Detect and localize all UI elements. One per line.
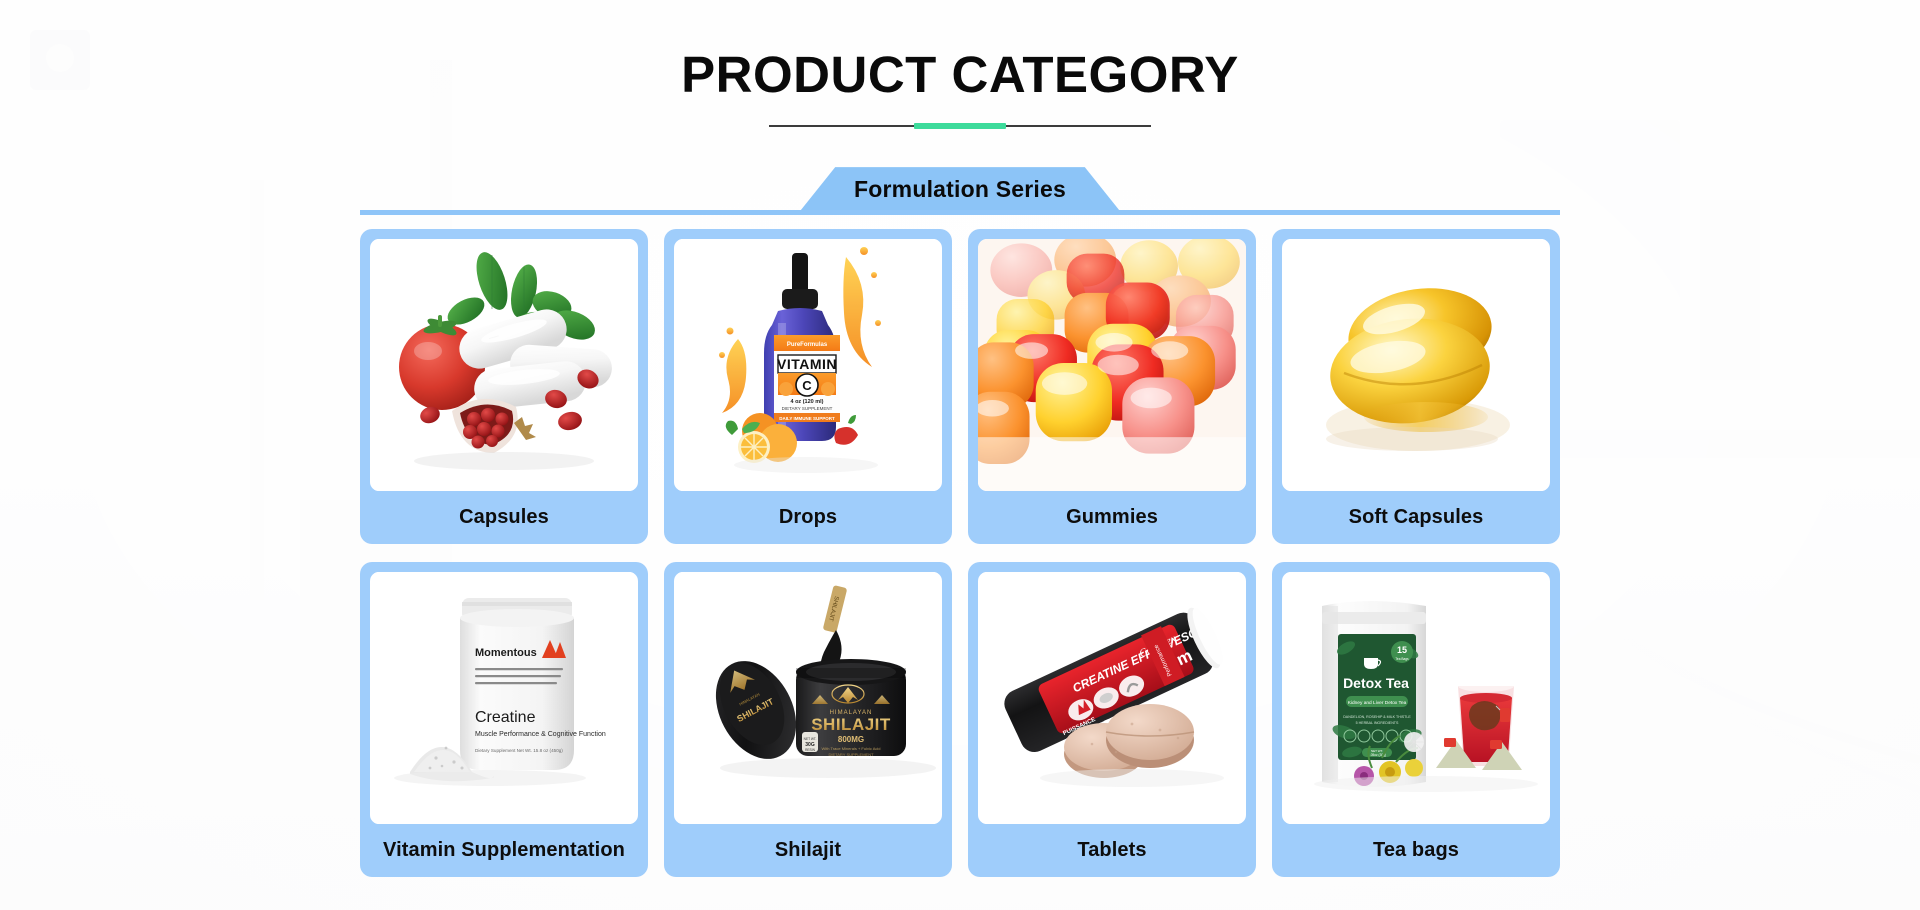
svg-text:Creatine: Creatine — [475, 709, 536, 726]
category-card-vitamin-supplementation[interactable]: Momentous ® Creatine Muscle Performance … — [360, 562, 648, 877]
svg-text:Dietary Supplement Net Wt. 15.: Dietary Supplement Net Wt. 15.8 oz (450g… — [475, 748, 563, 753]
svg-text:NET WT.: NET WT. — [804, 737, 817, 741]
vitamin-supplementation-thumbnail: Momentous ® Creatine Muscle Performance … — [370, 572, 638, 824]
category-label: Tablets — [978, 824, 1246, 877]
svg-text:Kidney and Liver Detox Tea: Kidney and Liver Detox Tea — [1348, 700, 1407, 706]
page-title: PRODUCT CATEGORY — [0, 0, 1920, 103]
category-card-grid: Capsules — [360, 229, 1560, 877]
tablets-thumbnail: CREATINE EFFERVESCENT Complex PUISSANCE … — [978, 572, 1246, 824]
svg-text:Muscle Performance & Cognitive: Muscle Performance & Cognitive Function — [475, 731, 606, 738]
svg-text:DIETARY SUPPLEMENT: DIETARY SUPPLEMENT — [782, 406, 833, 411]
category-card-tablets[interactable]: CREATINE EFFERVESCENT Complex PUISSANCE … — [968, 562, 1256, 877]
svg-text:DIETARY SUPPLEMENT: DIETARY SUPPLEMENT — [828, 752, 874, 757]
svg-text:Momentous: Momentous — [475, 647, 537, 659]
category-label: Vitamin Supplementation — [370, 824, 638, 877]
category-label: Tea bags — [1282, 824, 1550, 877]
svg-text:SHILAJIT: SHILAJIT — [811, 715, 891, 734]
category-card-tea-bags[interactable]: 15 Tea Bags Detox Tea Kidney and Liver D… — [1272, 562, 1560, 877]
svg-text:15: 15 — [1397, 645, 1407, 655]
category-label: Shilajit — [674, 824, 942, 877]
soft-capsules-thumbnail — [1282, 239, 1550, 491]
category-card-shilajit[interactable]: SHILAJIT SHILAJIT HIMALAYAN — [664, 562, 952, 877]
svg-text:With Trace Minerals + Fulvic A: With Trace Minerals + Fulvic Acid — [821, 746, 880, 751]
capsules-thumbnail — [370, 239, 638, 491]
svg-text:DAILY IMMUNE SUPPORT: DAILY IMMUNE SUPPORT — [779, 416, 835, 421]
category-label: Drops — [674, 491, 942, 544]
category-card-drops[interactable]: PureFormulas VITAMIN C 4 oz (120 ml) DIE… — [664, 229, 952, 544]
category-label: Gummies — [978, 491, 1246, 544]
drops-thumbnail: PureFormulas VITAMIN C 4 oz (120 ml) DIE… — [674, 239, 942, 491]
shilajit-thumbnail: SHILAJIT SHILAJIT HIMALAYAN — [674, 572, 942, 824]
section-header: Formulation Series — [360, 167, 1560, 215]
svg-text:800MG: 800MG — [838, 735, 864, 744]
title-underline — [769, 123, 1151, 129]
svg-text:RESIN: RESIN — [805, 748, 815, 752]
category-label: Capsules — [370, 491, 638, 544]
svg-text:Tea Bags: Tea Bags — [1395, 657, 1409, 661]
svg-text:4 oz (120 ml): 4 oz (120 ml) — [790, 399, 823, 405]
svg-text:DANDELION, ROSEHIP & MILK THIS: DANDELION, ROSEHIP & MILK THISTLE — [1343, 715, 1411, 719]
svg-text:5 HERBAL INGREDIENTS: 5 HERBAL INGREDIENTS — [1356, 721, 1399, 725]
svg-text:C: C — [802, 378, 812, 393]
category-label: Soft Capsules — [1282, 491, 1550, 544]
category-card-soft-capsules[interactable]: Soft Capsules — [1272, 229, 1560, 544]
category-card-capsules[interactable]: Capsules — [360, 229, 648, 544]
svg-text:VITAMIN: VITAMIN — [777, 356, 837, 372]
title-underline-accent — [914, 123, 1006, 129]
section-tab-label: Formulation Series — [854, 176, 1066, 203]
section-divider — [360, 210, 1560, 215]
svg-text:Detox Tea: Detox Tea — [1343, 675, 1409, 691]
section-tab-formulation-series[interactable]: Formulation Series — [800, 167, 1120, 211]
category-card-gummies[interactable]: Gummies — [968, 229, 1256, 544]
svg-text:PureFormulas: PureFormulas — [787, 342, 828, 348]
tea-bags-thumbnail: 15 Tea Bags Detox Tea Kidney and Liver D… — [1282, 572, 1550, 824]
gummies-thumbnail — [978, 239, 1246, 491]
